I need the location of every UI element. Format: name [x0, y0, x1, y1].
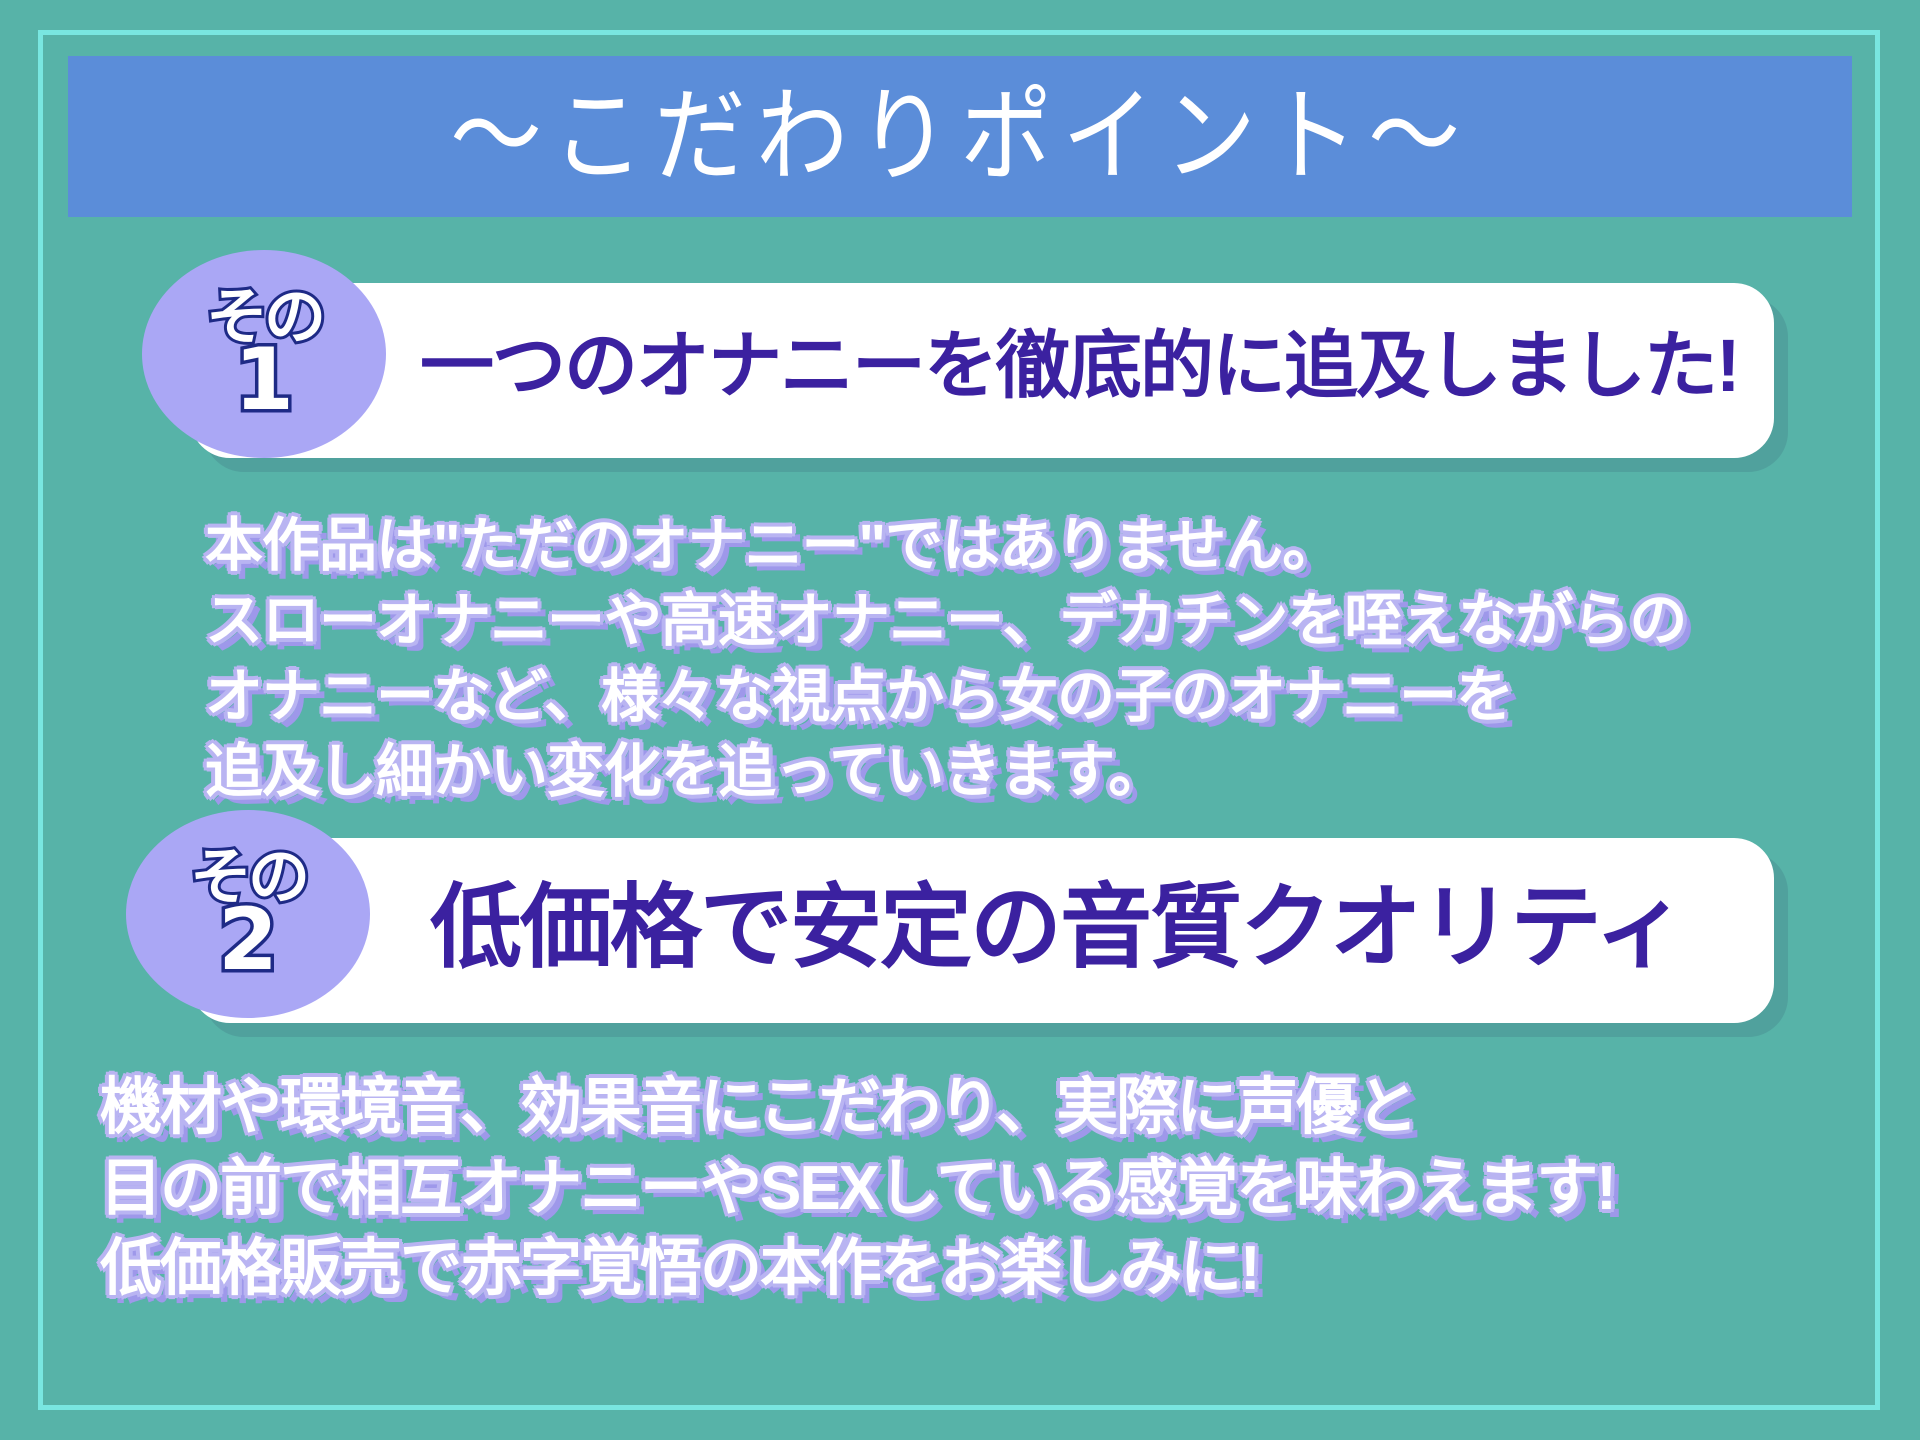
page-title: ～こだわりポイント～ — [450, 85, 1470, 188]
header-band: ～こだわりポイント～ — [68, 56, 1852, 217]
point-badge-1: その 1 — [142, 250, 386, 458]
promo-page: ～こだわりポイント～ 一つのオナニーを徹底的に追及しました! その 1 本作品は… — [0, 0, 1920, 1440]
point-badge-2: その 2 — [126, 810, 370, 1018]
point-body-2: 機材や環境音、効果音にこだわり、実際に声優と 目の前で相互オナニーやSEXしてい… — [100, 1068, 1615, 1310]
point-heading-1: 一つのオナニーを徹底的に追及しました! — [420, 329, 1739, 403]
badge-number-label-2: 2 — [218, 901, 278, 980]
point-body-1: 本作品は"ただのオナニー"ではありません。 スローオナニーや高速オナニー、デカチ… — [205, 508, 1686, 810]
badge-number-label-1: 1 — [234, 341, 294, 420]
point-heading-2: 低価格で安定の音質クオリティ — [430, 882, 1684, 974]
